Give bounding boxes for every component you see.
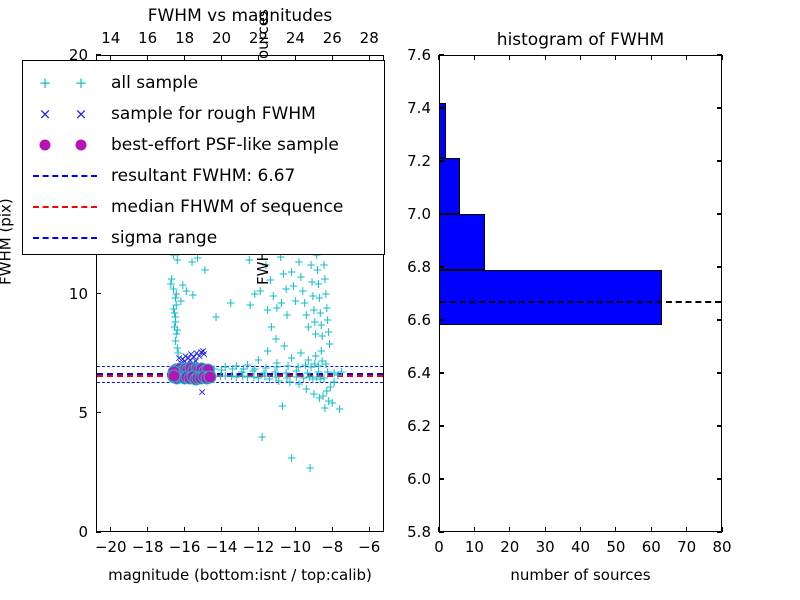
legend-entry-label: sample for rough FWHM xyxy=(111,104,316,124)
plus-marker: + xyxy=(39,74,52,92)
bottom-axis-tick-label: −14 xyxy=(206,538,238,556)
legend-entry-label: resultant FWHM: 6.67 xyxy=(111,166,295,186)
legend-marker-cross-marker: ×× xyxy=(23,97,109,130)
top-axis-tick-label: 20 xyxy=(212,29,231,47)
histogram-yaxis-tick xyxy=(439,213,444,214)
histogram-xaxis-tick xyxy=(686,527,687,532)
histogram-xaxis-tick xyxy=(509,527,510,532)
bottom-axis-tick xyxy=(147,527,148,532)
histogram-yaxis-tick-label: 6.0 xyxy=(407,470,431,488)
scatter-yaxis-tick xyxy=(96,293,101,294)
histogram-xaxis-tick xyxy=(651,527,652,532)
histogram-xaxis-tick-label: 0 xyxy=(434,538,444,556)
plus-marker: + xyxy=(75,74,88,92)
histogram-xaxis-tick-top xyxy=(509,55,510,60)
histogram-yaxis-tick xyxy=(439,478,444,479)
legend-marker-dashed-line xyxy=(23,190,109,223)
legend-entry-label: sigma range xyxy=(111,228,217,248)
reference-line-sigma-upper xyxy=(97,366,383,367)
circle-marker xyxy=(40,139,51,150)
histogram-yaxis-tick xyxy=(439,266,444,267)
bottom-axis-tick xyxy=(295,527,296,532)
histogram-xaxis-tick-label: 60 xyxy=(642,538,661,556)
top-axis-tick-label: 16 xyxy=(138,29,157,47)
histogram-xaxis-tick-label: 70 xyxy=(677,538,696,556)
bottom-axis-tick xyxy=(332,527,333,532)
bottom-axis-tick xyxy=(221,527,222,532)
scatter-yaxis-tick-label: 10 xyxy=(69,285,88,303)
histogram-yaxis-tick-right xyxy=(717,54,722,55)
histogram-yaxis-tick-label: 6.2 xyxy=(407,417,431,435)
scatter-xaxis-label: magnitude (bottom:isnt / top:calib) xyxy=(108,566,372,584)
legend-entry[interactable]: ++all sample xyxy=(23,66,384,99)
scatter-yaxis-label: FWHM (pix) xyxy=(0,198,15,285)
legend-entry[interactable]: sigma range xyxy=(23,221,384,254)
histogram-yaxis-tick xyxy=(439,54,444,55)
legend-marker-circle-marker xyxy=(23,128,109,161)
legend-marker-dashed-line xyxy=(23,159,109,192)
histogram-xaxis-tick-label: 40 xyxy=(571,538,590,556)
scatter-yaxis-tick-label: 0 xyxy=(78,523,88,541)
legend-entry[interactable]: resultant FWHM: 6.67 xyxy=(23,159,384,192)
dashed-line xyxy=(33,206,97,208)
histogram-xaxis-tick-top xyxy=(438,55,439,60)
histogram-yaxis-tick xyxy=(439,425,444,426)
histogram-xaxis-tick-label: 50 xyxy=(606,538,625,556)
histogram-yaxis-tick-label: 6.8 xyxy=(407,258,431,276)
histogram-yaxis-tick-right xyxy=(717,160,722,161)
reference-line-median-fwhm xyxy=(97,375,383,377)
scatter-yaxis-tick-label: 5 xyxy=(78,404,88,422)
bottom-axis-tick-label: −18 xyxy=(132,538,164,556)
scatter-yaxis-tick xyxy=(96,54,101,55)
histogram-xaxis-tick-top xyxy=(686,55,687,60)
histogram-yaxis-tick-right xyxy=(717,478,722,479)
histogram-xaxis-tick-label: 20 xyxy=(500,538,519,556)
cross-marker: × xyxy=(39,105,52,123)
histogram-xaxis-tick xyxy=(580,527,581,532)
histogram-xaxis-tick-label: 80 xyxy=(712,538,731,556)
top-axis-tick-label: 26 xyxy=(323,29,342,47)
top-axis-tick-label: 14 xyxy=(101,29,120,47)
histogram-xaxis-tick-top xyxy=(545,55,546,60)
legend-entry[interactable]: ××sample for rough FWHM xyxy=(23,97,384,130)
histogram-xaxis-tick xyxy=(545,527,546,532)
histogram-xaxis-tick-top xyxy=(651,55,652,60)
bottom-axis-tick xyxy=(184,527,185,532)
histogram-yaxis-tick xyxy=(439,372,444,373)
legend-entry[interactable]: median FHWM of sequence xyxy=(23,190,384,223)
histogram-xaxis-tick-top xyxy=(474,55,475,60)
bottom-axis-tick xyxy=(110,527,111,532)
histogram-yaxis-tick-right xyxy=(717,531,722,532)
legend-marker-plus-marker: ++ xyxy=(23,66,109,99)
histogram-yaxis-tick-right xyxy=(717,213,722,214)
histogram-reference-line xyxy=(440,301,721,303)
histogram-yaxis-tick-right xyxy=(717,266,722,267)
histogram-xaxis-label: number of sources xyxy=(510,566,650,584)
legend-box: ++all sample××sample for rough FWHMbest-… xyxy=(22,60,385,255)
histogram-plot-title: histogram of FWHM xyxy=(497,30,664,50)
legend-entry-label: all sample xyxy=(111,73,198,93)
histogram-xaxis-tick xyxy=(474,527,475,532)
bottom-axis-tick-label: −10 xyxy=(280,538,312,556)
legend-entry[interactable]: best-effort PSF-like sample xyxy=(23,128,384,161)
histogram-bar xyxy=(439,214,485,270)
histogram-yaxis-tick-label: 6.4 xyxy=(407,364,431,382)
histogram-bar xyxy=(439,158,460,214)
legend-entry-label: median FHWM of sequence xyxy=(111,197,343,217)
circle-marker xyxy=(76,139,87,150)
histogram-yaxis-tick-right xyxy=(717,425,722,426)
histogram-xaxis-tick xyxy=(615,527,616,532)
figure-canvas: FWHM vs magnitudes1416182022242628−20−18… xyxy=(0,0,800,600)
dashdot-line xyxy=(33,237,97,239)
scatter-yaxis-tick xyxy=(96,531,101,532)
histogram-yaxis-tick-label: 7.2 xyxy=(407,152,431,170)
histogram-xaxis-tick-top xyxy=(721,55,722,60)
histogram-yaxis-tick-right xyxy=(717,107,722,108)
histogram-xaxis-tick-label: 10 xyxy=(465,538,484,556)
histogram-yaxis-tick-label: 5.8 xyxy=(407,523,431,541)
histogram-yaxis-tick xyxy=(439,107,444,108)
scatter-plot-title: FWHM vs magnitudes xyxy=(148,6,333,26)
histogram-yaxis-tick-label: 7.6 xyxy=(407,46,431,64)
top-axis-tick-label: 18 xyxy=(175,29,194,47)
histogram-yaxis-tick xyxy=(439,319,444,320)
histogram-bar xyxy=(439,103,446,159)
dashed-line xyxy=(33,175,97,177)
histogram-yaxis-tick-label: 6.6 xyxy=(407,311,431,329)
histogram-yaxis-tick-label: 7.0 xyxy=(407,205,431,223)
histogram-yaxis-tick-right xyxy=(717,372,722,373)
legend-marker-dashdot-line xyxy=(23,221,109,254)
histogram-bar xyxy=(439,270,662,326)
bottom-axis-tick-label: −6 xyxy=(358,538,380,556)
bottom-axis-tick-label: −12 xyxy=(243,538,275,556)
scatter-yaxis-tick xyxy=(96,412,101,413)
top-axis-tick-label: 28 xyxy=(360,29,379,47)
histogram-yaxis-tick-label: 7.4 xyxy=(407,99,431,117)
histogram-yaxis-tick xyxy=(439,160,444,161)
top-axis-tick-label: 24 xyxy=(286,29,305,47)
histogram-yaxis-tick xyxy=(439,531,444,532)
bottom-axis-tick-label: −20 xyxy=(95,538,127,556)
bottom-axis-tick-label: −8 xyxy=(321,538,343,556)
histogram-xaxis-tick-top xyxy=(615,55,616,60)
histogram-xaxis-tick-top xyxy=(580,55,581,60)
cross-marker: × xyxy=(75,105,88,123)
bottom-axis-tick xyxy=(258,527,259,532)
reference-line-sigma-lower xyxy=(97,382,383,383)
histogram-xaxis-tick-label: 30 xyxy=(536,538,555,556)
bottom-axis-tick xyxy=(369,527,370,532)
bottom-axis-tick-label: −16 xyxy=(169,538,201,556)
legend-entry-label: best-effort PSF-like sample xyxy=(111,135,339,155)
histogram-yaxis-tick-right xyxy=(717,319,722,320)
